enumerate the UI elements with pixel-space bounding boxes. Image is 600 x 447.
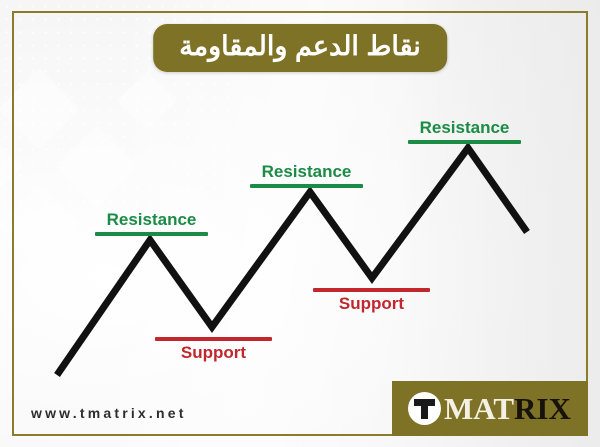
brand-name-light: MAT <box>444 391 514 426</box>
resistance-level-2: Resistance <box>250 162 363 188</box>
brand-logo-bar: MATRIX <box>392 381 588 436</box>
resistance-level-1-label: Resistance <box>107 210 197 229</box>
brand-name: MATRIX <box>444 393 571 424</box>
support-level-2: Support <box>313 288 430 314</box>
website-url[interactable]: www.tmatrix.net <box>31 405 187 421</box>
resistance-level-3-line <box>408 140 521 144</box>
brand-name-dark: RIX <box>514 391 571 426</box>
resistance-level-3-label: Resistance <box>420 118 510 137</box>
resistance-level-2-line <box>250 184 363 188</box>
resistance-level-1: Resistance <box>95 210 208 236</box>
resistance-level-2-label: Resistance <box>262 162 352 181</box>
support-level-1: Support <box>155 337 272 363</box>
support-level-1-line <box>155 337 272 341</box>
t-circle-icon <box>408 392 441 425</box>
support-level-1-label: Support <box>181 343 246 362</box>
resistance-level-1-line <box>95 232 208 236</box>
support-level-2-label: Support <box>339 294 404 313</box>
support-level-2-line <box>313 288 430 292</box>
resistance-level-3: Resistance <box>408 118 521 144</box>
price-chart <box>0 0 600 447</box>
infographic-canvas: نقاط الدعم والمقاومة Resistance Support … <box>0 0 600 447</box>
